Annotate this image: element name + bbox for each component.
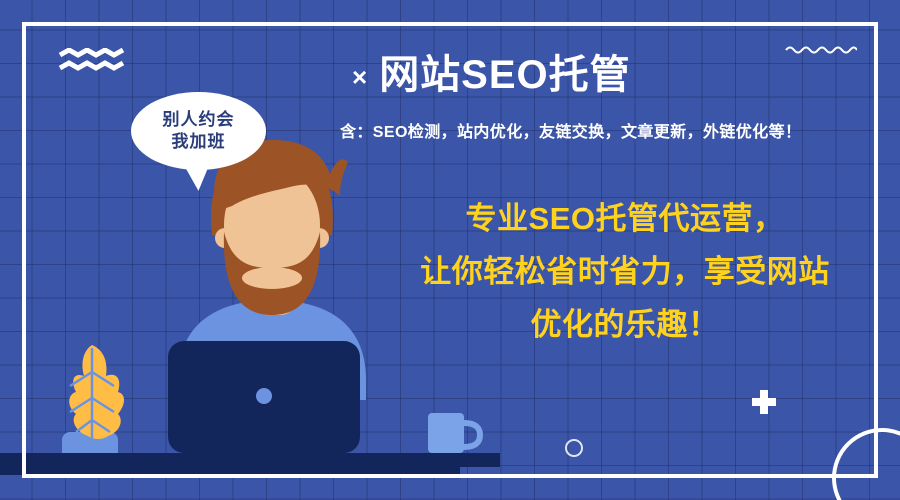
wavy-line-icon [785, 44, 857, 56]
speech-bubble: 别人约会 我加班 [131, 92, 266, 170]
headline-line-2: 让你轻松省时省力，享受网站 [386, 245, 864, 298]
wave-lines-icon [58, 48, 128, 72]
seo-promo-banner: 别人约会 我加班 × 网站SEO托管 含：SEO检测，站内优化，友链交换，文章更… [0, 0, 900, 500]
headline-line-1: 专业SEO托管代运营， [386, 192, 864, 245]
title-row: × 网站SEO托管 [352, 47, 712, 103]
speech-bubble-line-1: 别人约会 [163, 109, 235, 131]
headline-block: 专业SEO托管代运营， 让你轻松省时省力，享受网站 优化的乐趣！ [386, 192, 864, 351]
page-subtitle: 含：SEO检测，站内优化，友链交换，文章更新，外链优化等！ [340, 118, 880, 142]
plus-icon [752, 390, 776, 414]
headline-line-3: 优化的乐趣！ [386, 298, 864, 351]
circle-outline-icon [565, 439, 583, 457]
page-title: 网站SEO托管 [379, 55, 630, 95]
title-bullet-icon: × [352, 64, 367, 90]
speech-bubble-line-2: 我加班 [172, 131, 226, 153]
